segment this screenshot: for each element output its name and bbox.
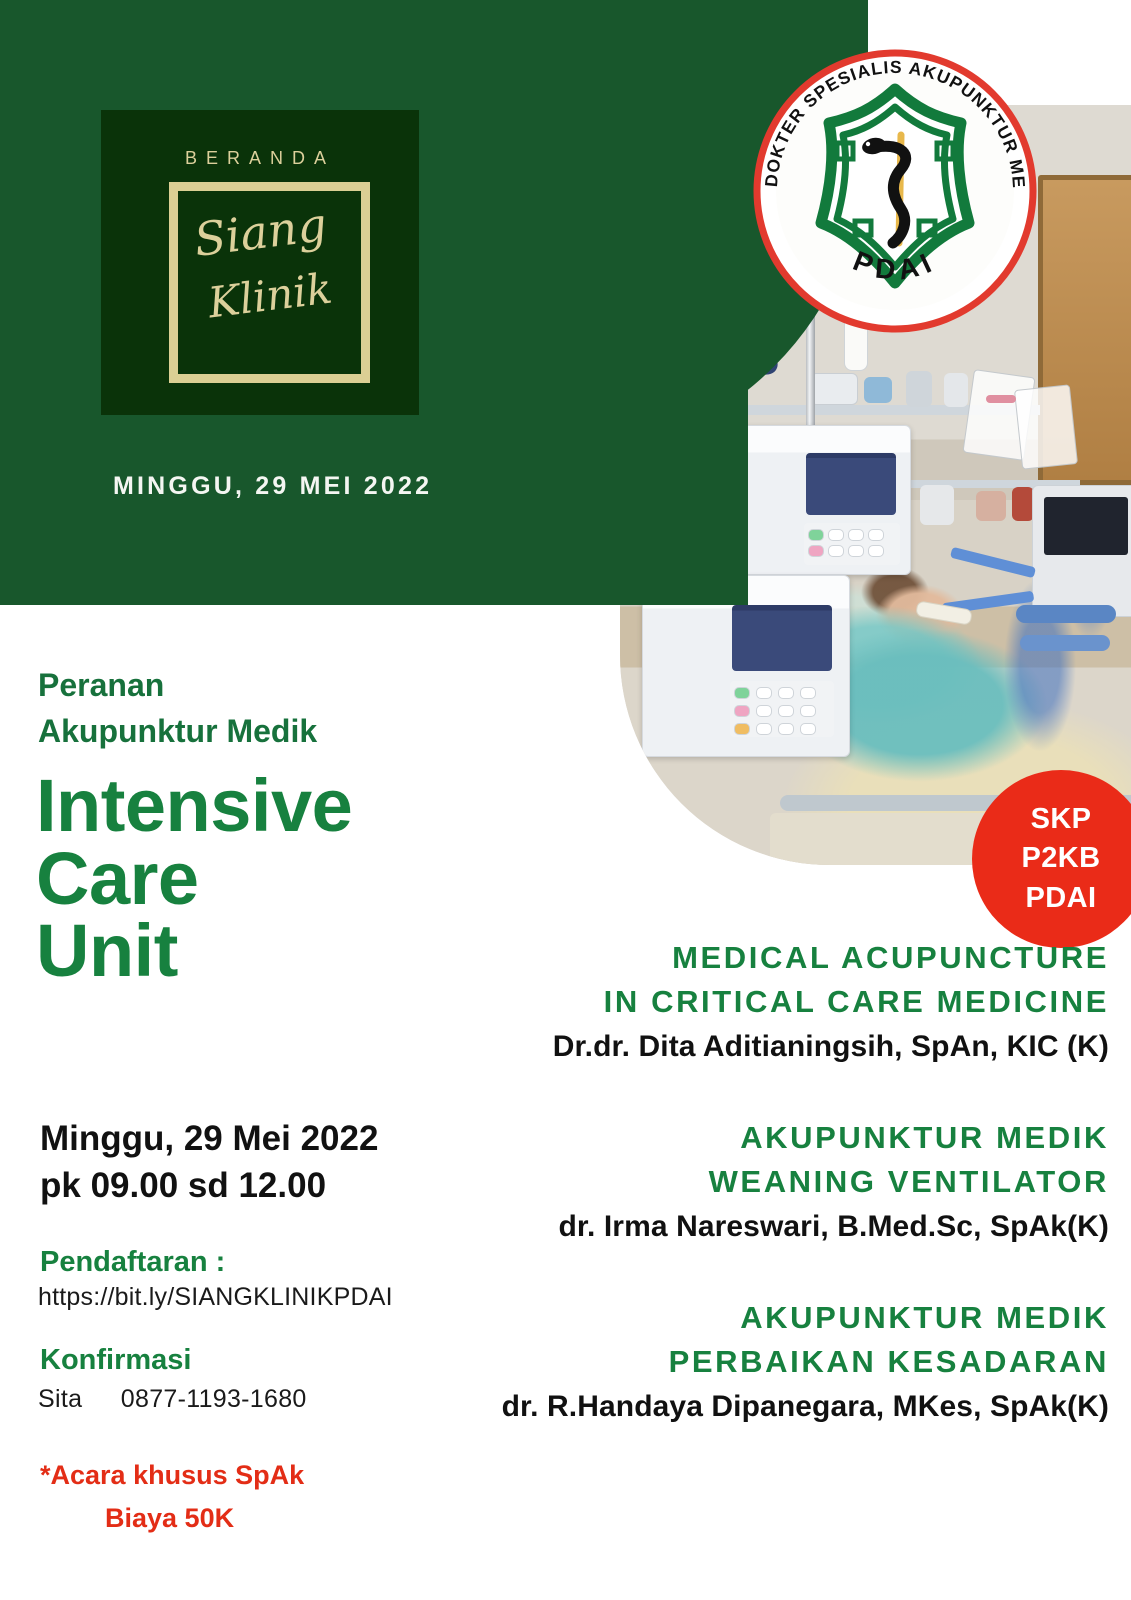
main-title-line1: Intensive [36, 770, 466, 843]
pump-screen-upper [806, 453, 896, 515]
session-2-topic: AKUPUNKTUR MEDIK WEANING VENTILATOR [449, 1116, 1109, 1204]
session-3-topic-line1: AKUPUNKTUR MEDIK [449, 1296, 1109, 1340]
session-2-speaker: dr. Irma Nareswari, B.Med.Sc, SpAk(K) [449, 1210, 1109, 1244]
session-1-topic: MEDICAL ACUPUNCTURE IN CRITICAL CARE MED… [449, 936, 1109, 1024]
pump-key [778, 705, 794, 717]
pump-key [828, 529, 844, 541]
wall-outlet-decor [810, 373, 858, 405]
ventilator-arm-decor [1020, 635, 1110, 651]
note-special-event: *Acara khusus SpAk [40, 1460, 304, 1491]
pump-key [848, 529, 864, 541]
wall-outlet-decor [944, 373, 968, 407]
pump-key [756, 687, 772, 699]
main-title: Intensive Care Unit [36, 770, 466, 988]
iv-bag-decor [1014, 384, 1078, 469]
skp-badge: SKP P2KB PDAI [972, 770, 1131, 948]
brand-gold-frame: Siang Klinik [169, 182, 370, 383]
pump-key [808, 545, 824, 557]
wall-outlet-decor [920, 485, 954, 525]
iv-bag-label-decor [986, 395, 1016, 403]
confirmation-contact-phone: 0877-1193-1680 [121, 1385, 307, 1413]
brand-script-siang: Siang [191, 197, 329, 267]
main-kicker-line1: Peranan [38, 662, 468, 708]
session-1-topic-line1: MEDICAL ACUPUNCTURE [449, 936, 1109, 980]
session-2-topic-line1: AKUPUNKTUR MEDIK [449, 1116, 1109, 1160]
confirmation-contact: Sita 0877-1193-1680 [38, 1385, 307, 1414]
pump-key [808, 529, 824, 541]
pump-key [734, 705, 750, 717]
pump-key [848, 545, 864, 557]
pump-key [800, 705, 816, 717]
session-3-topic: AKUPUNKTUR MEDIK PERBAIKAN KESADARAN [449, 1296, 1109, 1384]
pump-key [734, 687, 750, 699]
session-block-3: AKUPUNKTUR MEDIK PERBAIKAN KESADARAN dr.… [449, 1296, 1109, 1424]
pump-key [778, 723, 794, 735]
wall-outlet-decor [864, 377, 892, 403]
pump-key [828, 545, 844, 557]
pump-key [756, 705, 772, 717]
confirmation-label: Konfirmasi [40, 1344, 191, 1377]
main-kicker: Peranan Akupunktur Medik [38, 662, 468, 754]
main-title-line2: Care [36, 843, 466, 916]
main-kicker-line2: Akupunktur Medik [38, 708, 468, 754]
pump-key [734, 723, 750, 735]
session-3-topic-line2: PERBAIKAN KESADARAN [449, 1340, 1109, 1384]
skp-badge-line3: PDAI [1026, 879, 1097, 918]
session-1-topic-line2: IN CRITICAL CARE MEDICINE [449, 980, 1109, 1024]
wall-outlet-decor [1012, 487, 1034, 521]
poster-canvas: BERANDA Siang Klinik MINGGU, 29 MEI 2022 [0, 0, 1131, 1600]
beranda-logo-box: BERANDA Siang Klinik [101, 110, 419, 415]
pump-key [800, 723, 816, 735]
pump-key [800, 687, 816, 699]
pump-key [868, 529, 884, 541]
registration-label: Pendaftaran : [40, 1246, 225, 1279]
brand-script-klinik: Klinik [205, 264, 334, 328]
wall-outlet-decor [906, 371, 932, 407]
schedule-block: Minggu, 29 Mei 2022 pk 09.00 sd 12.00 [40, 1116, 510, 1209]
pump-key [756, 723, 772, 735]
pdai-logo-svg: PERHIMPUNAN DOKTER SPESIALIS AKUPUNKTUR … [751, 47, 1039, 335]
ventilator-screen [1044, 497, 1128, 555]
registration-link[interactable]: https://bit.ly/SIANGKLINIKPDAI [38, 1283, 393, 1312]
session-block-1: MEDICAL ACUPUNCTURE IN CRITICAL CARE MED… [449, 936, 1109, 1064]
pdai-logo: PERHIMPUNAN DOKTER SPESIALIS AKUPUNKTUR … [751, 47, 1039, 335]
skp-badge-line2: P2KB [1022, 839, 1101, 878]
ventilator-arm-decor [1016, 605, 1116, 623]
note-fee: Biaya 50K [105, 1503, 234, 1534]
green-panel-extension [548, 0, 748, 605]
session-1-speaker: Dr.dr. Dita Aditianingsih, SpAn, KIC (K) [449, 1030, 1109, 1064]
pump-key [868, 545, 884, 557]
main-title-line3: Unit [36, 915, 466, 988]
brand-kicker-label: BERANDA [101, 148, 419, 169]
confirmation-contact-name: Sita [38, 1385, 82, 1413]
session-block-2: AKUPUNKTUR MEDIK WEANING VENTILATOR dr. … [449, 1116, 1109, 1244]
wall-outlet-decor [976, 491, 1006, 521]
skp-badge-line1: SKP [1031, 800, 1092, 839]
session-3-speaker: dr. R.Handaya Dipanegara, MKes, SpAk(K) [449, 1390, 1109, 1424]
schedule-date: Minggu, 29 Mei 2022 [40, 1116, 510, 1163]
panel-date-label: MINGGU, 29 MEI 2022 [113, 468, 443, 506]
pump-key [778, 687, 794, 699]
pump-screen-lower [732, 605, 832, 671]
session-2-topic-line2: WEANING VENTILATOR [449, 1160, 1109, 1204]
schedule-time: pk 09.00 sd 12.00 [40, 1163, 510, 1210]
